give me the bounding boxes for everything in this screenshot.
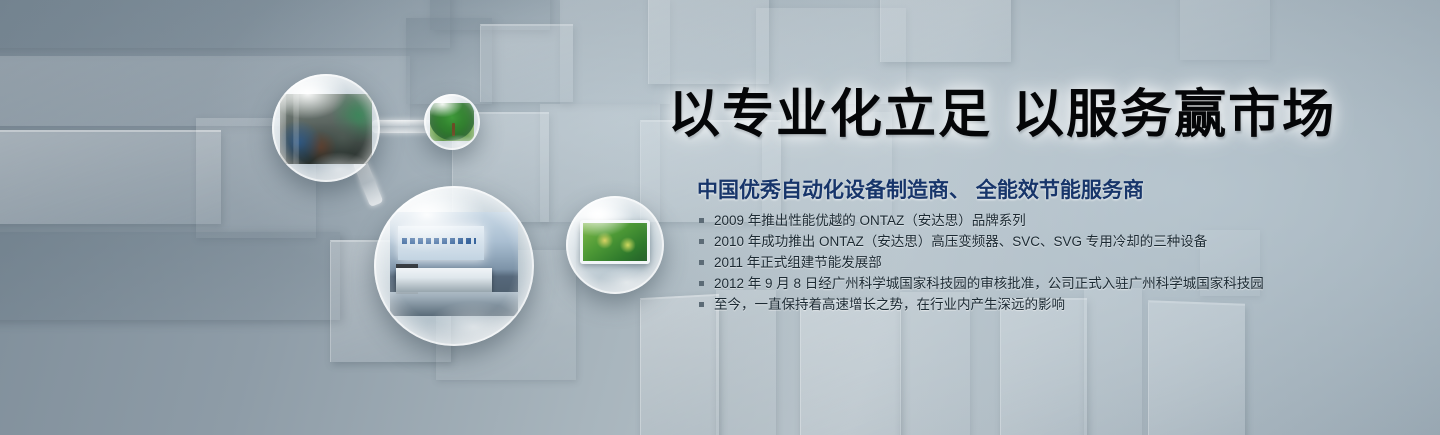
list-item-label: 2012 年 9 月 8 日经广州科学城国家科技园的审核批准，公司正式入驻广州科… [714, 276, 1264, 291]
bullet-square-icon [699, 281, 704, 286]
list-item-label: 2009 年推出性能优越的 ONTAZ（安达思）品牌系列 [714, 213, 1026, 228]
achievement-list: 2009 年推出性能优越的 ONTAZ（安达思）品牌系列 2010 年成功推出 … [699, 212, 1264, 317]
office-lobby-sphere [374, 186, 534, 346]
tree-photo [430, 103, 474, 141]
office-lobby-photo [390, 212, 518, 316]
lobby-reception-counter [396, 268, 492, 292]
factory-workers-sphere [272, 74, 380, 182]
subtitle: 中国优秀自动化设备制造商、 全能效节能服务商 [697, 178, 1144, 203]
factory-photo [280, 94, 372, 164]
list-item-label: 至今，一直保持着高速增长之势，在行业内产生深远的影响 [714, 297, 1065, 312]
headline: 以专业化立足 以服务赢市场 [668, 87, 1336, 143]
company-promo-banner: 以专业化立足 以服务赢市场 中国优秀自动化设备制造商、 全能效节能服务商 200… [0, 0, 1440, 435]
list-item: 2010 年成功推出 ONTAZ（安达思）高压变频器、SVC、SVG 专用冷却的… [699, 233, 1264, 250]
green-tree-sphere [424, 94, 480, 150]
monitor-screen-photo [580, 220, 650, 264]
bullet-square-icon [699, 218, 704, 223]
bullet-square-icon [699, 302, 704, 307]
list-item: 2012 年 9 月 8 日经广州科学城国家科技园的审核批准，公司正式入驻广州科… [699, 275, 1264, 292]
list-item: 2009 年推出性能优越的 ONTAZ（安达思）品牌系列 [699, 212, 1264, 229]
list-item-label: 2011 年正式组建节能发展部 [714, 255, 882, 270]
lobby-floor [390, 292, 518, 316]
bullet-square-icon [699, 260, 704, 265]
monitor-display-sphere [566, 196, 664, 294]
list-item: 2011 年正式组建节能发展部 [699, 254, 1264, 271]
list-item-label: 2010 年成功推出 ONTAZ（安达思）高压变频器、SVC、SVG 专用冷却的… [714, 234, 1207, 249]
lobby-sign-text [402, 238, 476, 244]
list-item: 至今，一直保持着高速增长之势，在行业内产生深远的影响 [699, 296, 1264, 313]
bullet-square-icon [699, 239, 704, 244]
sphere-connector-tube-top [372, 120, 432, 133]
